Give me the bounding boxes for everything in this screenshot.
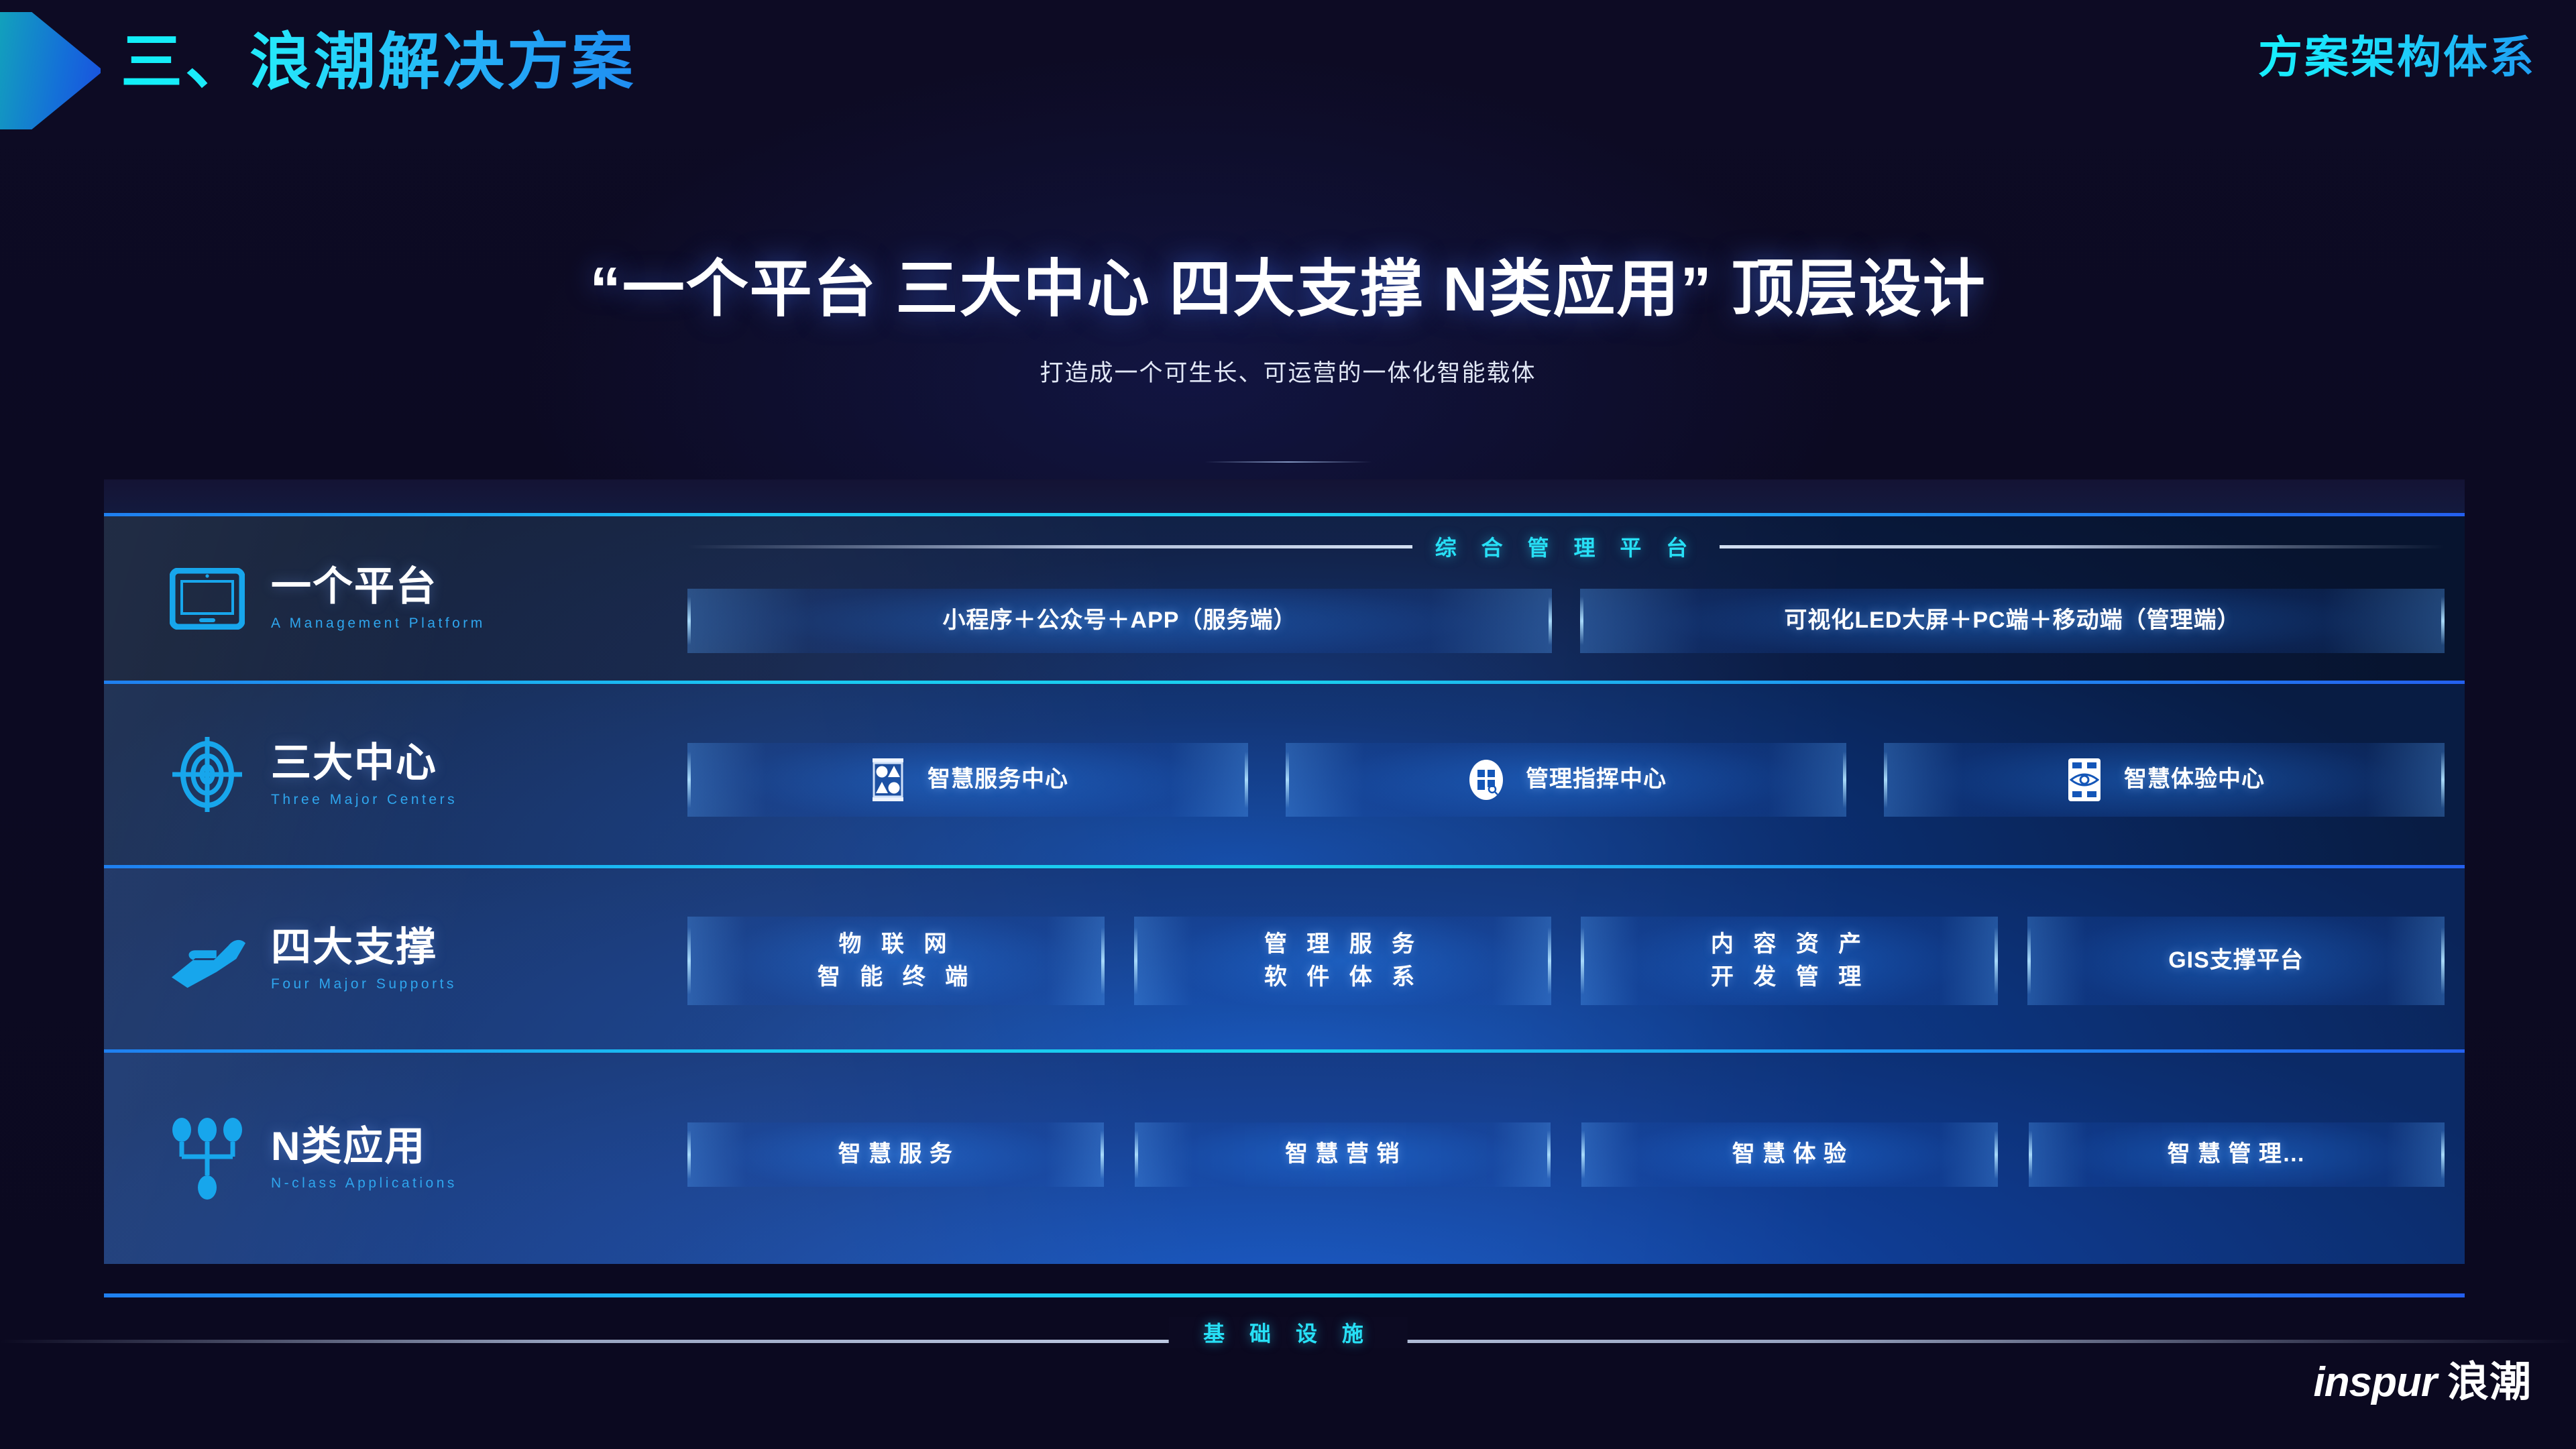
logo-latin: inspur xyxy=(2314,1359,2437,1405)
row-boxes: 智 慧 服 务 智 慧 营 销 智 慧 体 验 智 慧 管 理… xyxy=(687,1122,2445,1187)
box-item[interactable]: 管理指挥中心 xyxy=(1286,743,1846,817)
box-label: 智 慧 管 理… xyxy=(2168,1139,2306,1170)
box-label: 内 容 资 产 开 发 管 理 xyxy=(1711,928,1868,994)
inspur-logo: inspur浪潮 xyxy=(2314,1348,2532,1408)
heading-rule-left xyxy=(687,545,1412,548)
row-boxes: 智慧服务中心 xyxy=(687,743,2445,817)
box-item[interactable]: 可视化LED大屏＋PC端＋移动端（管理端） xyxy=(1580,589,2445,653)
box-item[interactable]: 内 容 资 产 开 发 管 理 xyxy=(1581,917,1998,1005)
network-tree-icon xyxy=(168,1119,247,1198)
box-label: 管 理 服 务 软 件 体 系 xyxy=(1264,928,1421,994)
row-label: 四大支撑 Four Major Supports xyxy=(168,868,457,1049)
box-label: 智 慧 营 销 xyxy=(1285,1139,1400,1170)
slide-root: 三、浪潮解决方案 方案架构体系 “一个平台 三大中心 四大支撑 N类应用” 顶层… xyxy=(0,0,2576,1449)
row-boxes: 小程序＋公众号＋APP（服务端） 可视化LED大屏＋PC端＋移动端（管理端） xyxy=(687,589,2445,653)
box-item[interactable]: 智 慧 营 销 xyxy=(1135,1122,1551,1187)
panel-bottom-line xyxy=(104,1293,2465,1297)
box-item[interactable]: 智 慧 服 务 xyxy=(687,1122,1104,1187)
box-label: 小程序＋公众号＋APP（服务端） xyxy=(943,605,1297,636)
shapes-panel-icon xyxy=(867,759,909,801)
box-item[interactable]: 智 慧 体 验 xyxy=(1581,1122,1998,1187)
heading-rule-right xyxy=(1720,545,2445,548)
section-heading: 综 合 管 理 平 台 xyxy=(687,531,2445,562)
box-item[interactable]: 小程序＋公众号＋APP（服务端） xyxy=(687,589,1552,653)
chevron-decoration-icon xyxy=(0,12,101,129)
box-item[interactable]: 管 理 服 务 软 件 体 系 xyxy=(1134,917,1551,1005)
box-label: 物 联 网 智 能 终 端 xyxy=(818,928,974,994)
row-content: 物 联 网 智 能 终 端 管 理 服 务 软 件 体 系 内 容 资 产 开 … xyxy=(687,868,2445,1049)
row-label-cn: N类应用 xyxy=(271,1125,457,1167)
section-heading-label: 综 合 管 理 平 台 xyxy=(1412,531,1720,562)
row-one-platform[interactable]: 一个平台 A Management Platform 综 合 管 理 平 台 小… xyxy=(104,513,2465,681)
box-label: 智慧服务中心 xyxy=(928,764,1068,795)
row-label-en: A Management Platform xyxy=(271,616,486,632)
logo-chinese: 浪潮 xyxy=(2447,1359,2532,1405)
row-content: 综 合 管 理 平 台 小程序＋公众号＋APP（服务端） 可视化LED大屏＋PC… xyxy=(687,516,2445,681)
eye-frame-icon xyxy=(2064,759,2105,801)
row-n-applications[interactable]: N类应用 N-class Applications 智 慧 服 务 智 慧 营 … xyxy=(104,1049,2465,1264)
row-content: 智 慧 服 务 智 慧 营 销 智 慧 体 验 智 慧 管 理… xyxy=(687,1053,2445,1264)
row-label: N类应用 N-class Applications xyxy=(168,1053,457,1264)
row-label-cn: 四大支撑 xyxy=(271,926,457,968)
section-title: 方案架构体系 xyxy=(2258,21,2536,86)
row-label: 一个平台 A Management Platform xyxy=(168,516,486,681)
row-four-supports[interactable]: 四大支撑 Four Major Supports 物 联 网 智 能 终 端 管… xyxy=(104,865,2465,1049)
row-boxes: 物 联 网 智 能 终 端 管 理 服 务 软 件 体 系 内 容 资 产 开 … xyxy=(687,917,2445,1005)
hero-title: “一个平台 三大中心 四大支撑 N类应用” 顶层设计 xyxy=(0,238,2576,329)
page-title: 三、浪潮解决方案 xyxy=(121,12,636,101)
hero-subtitle: 打造成一个可生长、可运营的一体化智能载体 xyxy=(0,354,2576,388)
box-label: 可视化LED大屏＋PC端＋移动端（管理端） xyxy=(1784,605,2240,636)
box-label: 智 慧 体 验 xyxy=(1732,1139,1847,1170)
row-label-en: Four Major Supports xyxy=(271,976,457,992)
box-label: 管理指挥中心 xyxy=(1526,764,1667,795)
architecture-panel: 一个平台 A Management Platform 综 合 管 理 平 台 小… xyxy=(104,479,2465,1297)
box-label: 智慧体验中心 xyxy=(2124,764,2265,795)
infrastructure-label: 基 础 设 施 xyxy=(1168,1317,1408,1348)
box-item[interactable]: 智慧服务中心 xyxy=(687,743,1248,817)
box-label: GIS支撑平台 xyxy=(2168,945,2304,976)
row-label: 三大中心 Three Major Centers xyxy=(168,684,457,865)
hero-block: “一个平台 三大中心 四大支撑 N类应用” 顶层设计 打造成一个可生长、可运营的… xyxy=(0,238,2576,388)
hero-divider xyxy=(1205,461,1372,463)
row-label-en: N-class Applications xyxy=(271,1175,457,1192)
box-item[interactable]: GIS支撑平台 xyxy=(2027,917,2445,1005)
box-item[interactable]: 智 慧 管 理… xyxy=(2029,1122,2445,1187)
box-label: 智 慧 服 务 xyxy=(838,1139,953,1170)
infrastructure-band: 基 础 设 施 xyxy=(0,1301,2576,1408)
row-content: 智慧服务中心 xyxy=(687,684,2445,865)
row-three-centers[interactable]: 三大中心 Three Major Centers xyxy=(104,681,2465,865)
tablet-icon xyxy=(168,559,247,638)
dashboard-search-icon xyxy=(1465,759,1507,801)
row-label-cn: 一个平台 xyxy=(271,565,486,607)
row-label-cn: 三大中心 xyxy=(271,742,457,784)
box-item[interactable]: 智慧体验中心 xyxy=(1884,743,2445,817)
target-icon xyxy=(168,735,247,814)
box-item[interactable]: 物 联 网 智 能 终 端 xyxy=(687,917,1105,1005)
panel-top-band xyxy=(104,479,2465,513)
open-hand-icon xyxy=(168,919,247,998)
row-label-en: Three Major Centers xyxy=(271,792,457,808)
